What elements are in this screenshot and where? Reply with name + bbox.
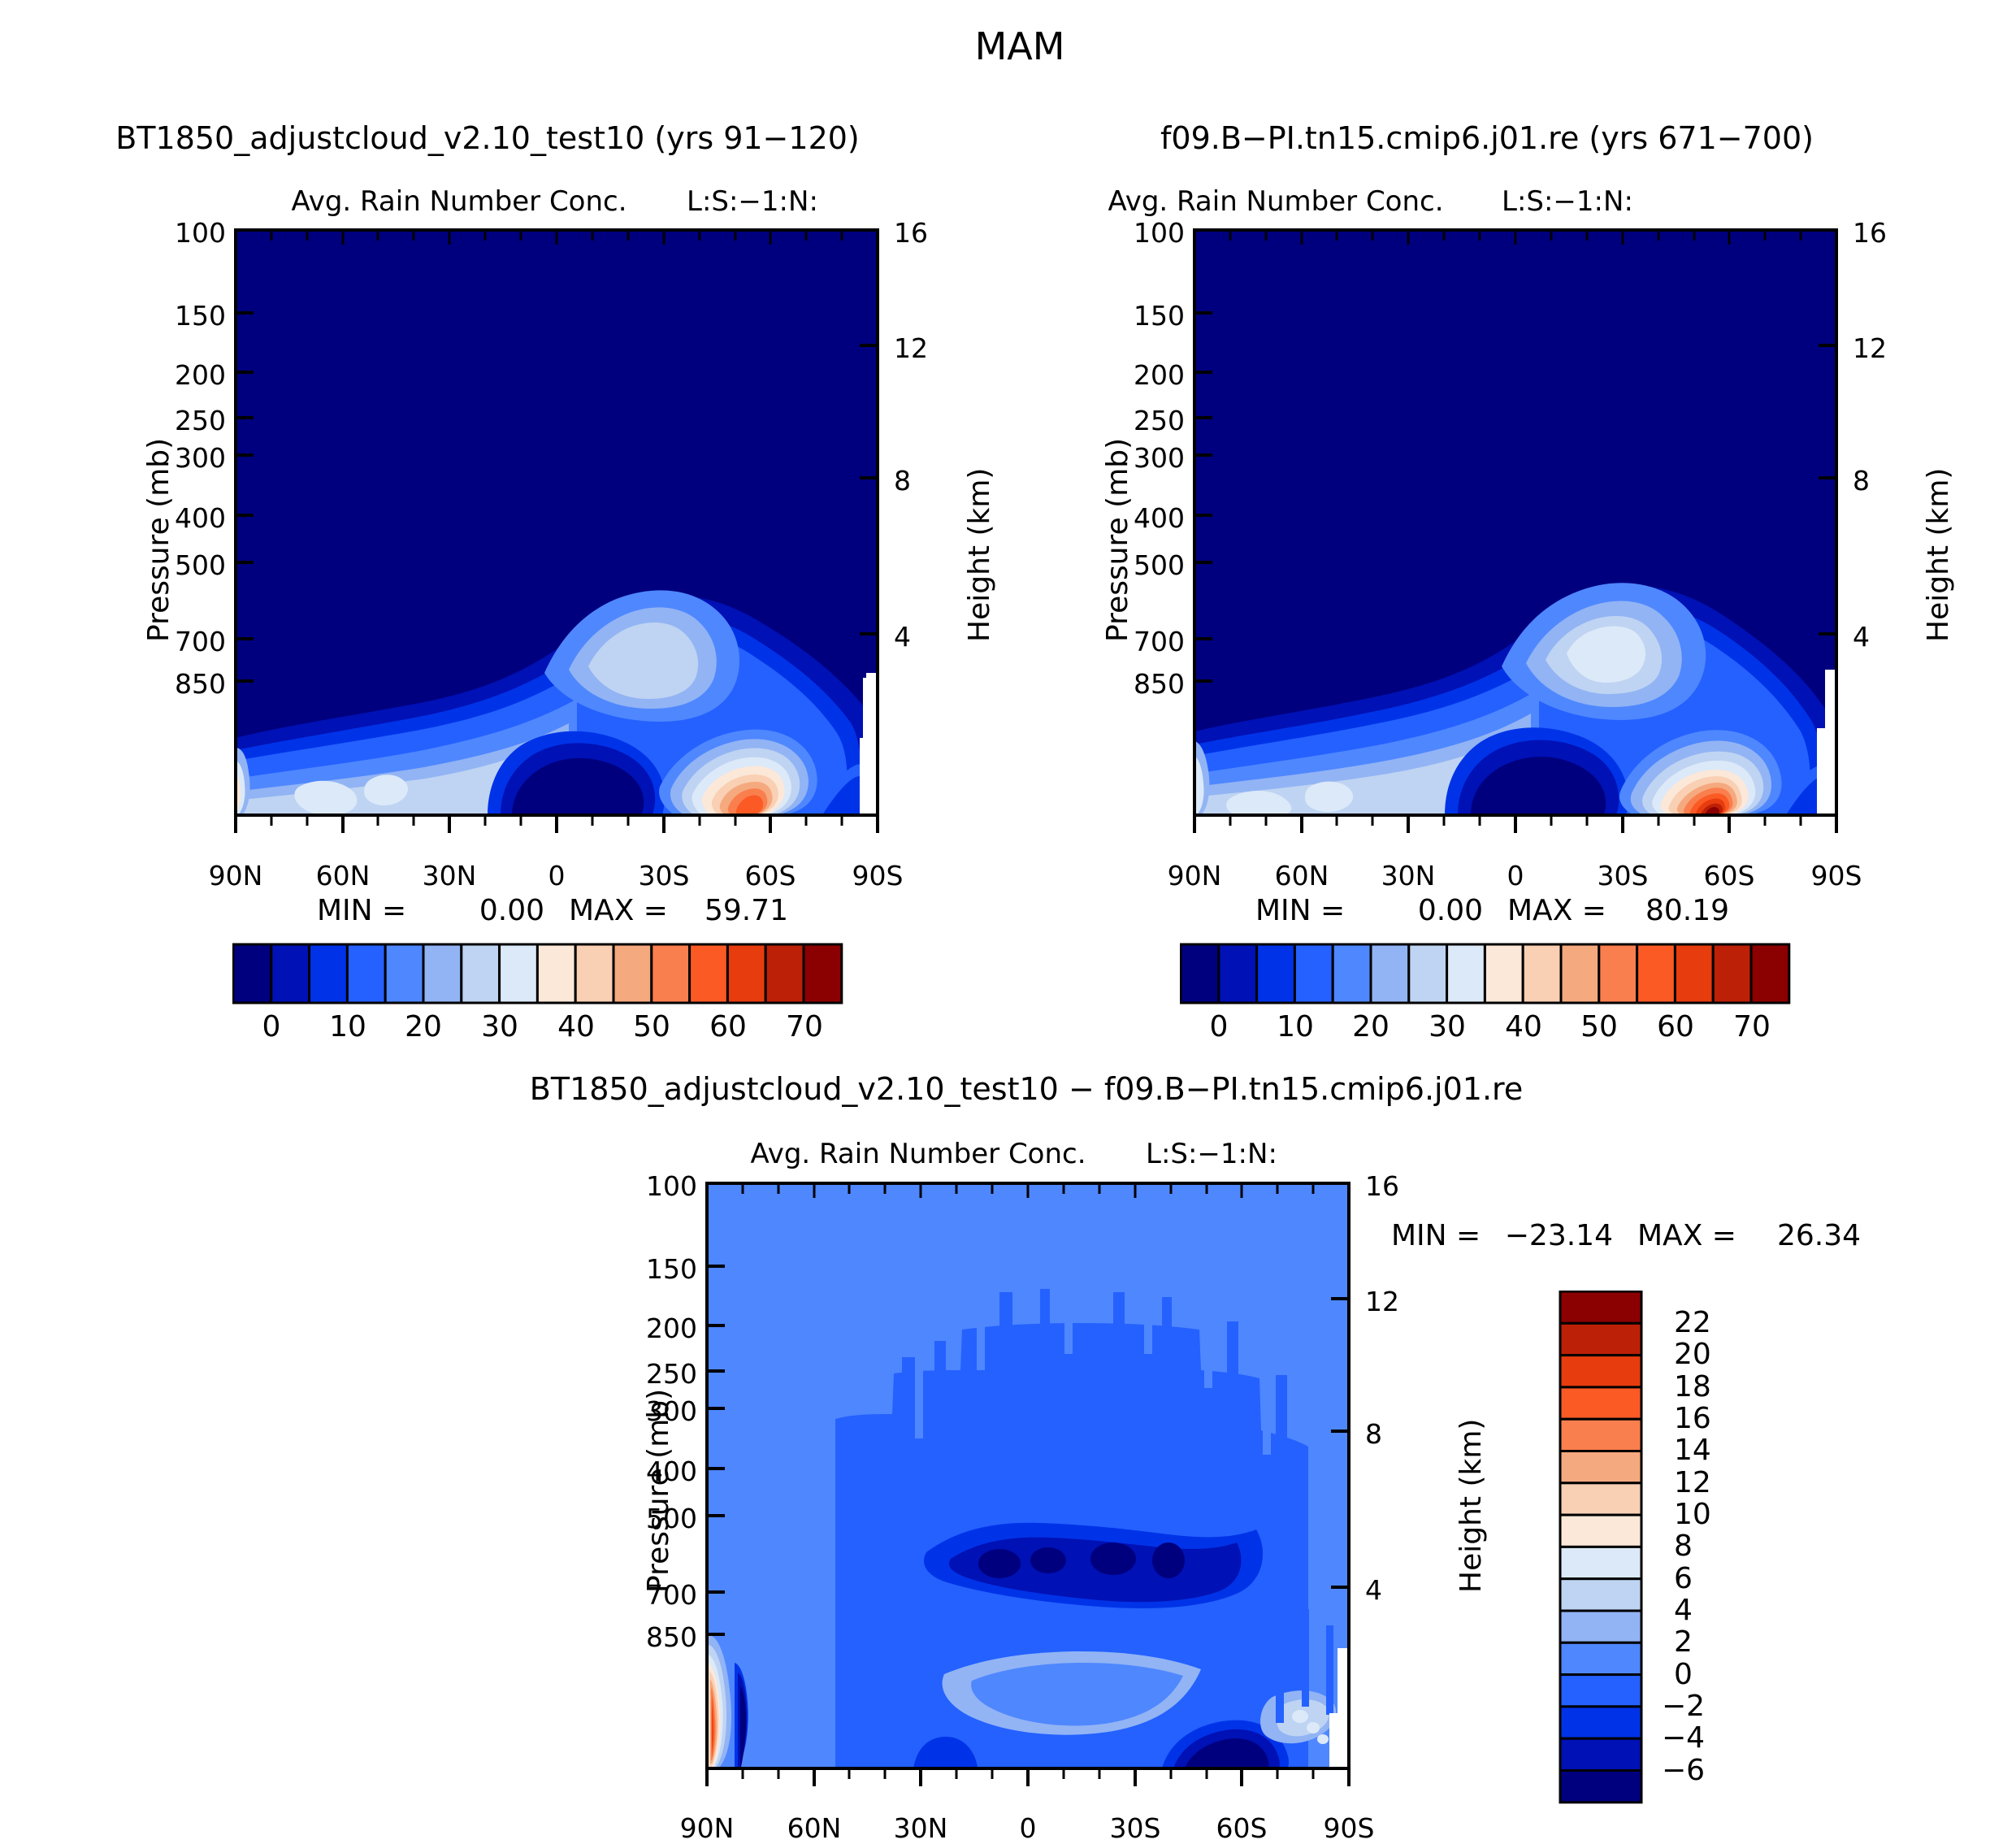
diff-panel-xtick-60N: 60N (787, 1812, 842, 1844)
right-colorbar-tick-30: 30 (1429, 1010, 1466, 1043)
right-panel-ytick-300: 300 (1134, 442, 1185, 474)
diff-panel-max-value: 26.34 (1777, 1219, 1861, 1252)
right-panel-xtick-0: 0 (1507, 860, 1524, 892)
left-panel-title: BT1850_adjustcloud_v2.10_test10 (yrs 91−… (115, 120, 860, 156)
right-panel-xtick-30N: 30N (1381, 860, 1436, 892)
left-panel-ytick-400: 400 (175, 502, 226, 534)
right-panel-min-label: MIN = (1255, 894, 1345, 927)
colorbar-cells (1181, 944, 1789, 1003)
right-panel-y2tick-12: 12 (1853, 332, 1887, 364)
right-colorbar-tick-20: 20 (1352, 1010, 1390, 1043)
left-panel-xtick-30N: 30N (423, 860, 477, 892)
right-colorbar-tick-10: 10 (1277, 1010, 1314, 1043)
left-colorbar-tick-10: 10 (329, 1010, 366, 1043)
right-panel-ytick-200: 200 (1134, 359, 1185, 391)
left-panel-xtick-90S: 90S (852, 860, 904, 892)
right-panel-max-value: 80.19 (1645, 894, 1729, 927)
left-colorbar-tick-0: 0 (262, 1010, 281, 1043)
diff-panel-min-value: −23.14 (1505, 1219, 1613, 1252)
left-panel-xtick-60S: 60S (745, 860, 796, 892)
right-colorbar-tick-40: 40 (1505, 1010, 1542, 1043)
diff-panel-xtick-30N: 30N (894, 1812, 948, 1844)
diff-colorbar-tick-22: 22 (1674, 1306, 1711, 1339)
left-panel-min-value: 0.00 (479, 894, 544, 927)
left-panel-y2tick-12: 12 (894, 332, 928, 364)
main-title: MAM (975, 24, 1065, 68)
right-panel-ytick-500: 500 (1134, 549, 1185, 581)
diff-panel-min-label: MIN = (1391, 1219, 1481, 1252)
left-panel-max-value: 59.71 (705, 894, 788, 927)
diff-panel-y2tick-12: 12 (1365, 1286, 1399, 1317)
left-panel-xtick-30S: 30S (639, 860, 690, 892)
diff-panel-ytick-100: 100 (646, 1170, 697, 1202)
left-panel-ytick-850: 850 (175, 668, 226, 700)
right-panel-ytick-400: 400 (1134, 502, 1185, 534)
right-panel-xtick-30S: 30S (1598, 860, 1649, 892)
right-panel-ytick-100: 100 (1134, 217, 1185, 249)
left-panel-y2tick-16: 16 (894, 217, 928, 249)
diff-panel-plot (658, 1170, 1479, 1820)
right-panel-ytick-250: 250 (1134, 405, 1185, 436)
right-panel-y2tick-16: 16 (1853, 217, 1887, 249)
diff-colorbar-tick-16: 16 (1674, 1402, 1711, 1435)
diff-panel-ytick-500: 500 (646, 1503, 697, 1534)
diff-colorbar-tick-m4: −4 (1662, 1721, 1705, 1755)
left-panel-ytick-700: 700 (175, 626, 226, 657)
right-panel-xtick-60N: 60N (1275, 860, 1329, 892)
diff-colorbar-tick-12: 12 (1674, 1466, 1711, 1499)
left-panel-xtick-90N: 90N (209, 860, 263, 892)
right-colorbar-tick-70: 70 (1733, 1010, 1771, 1043)
diff-panel-ytick-400: 400 (646, 1456, 697, 1487)
diff-panel-colorbar[interactable] (1559, 1291, 1664, 1811)
left-panel-min-label: MIN = (317, 894, 406, 927)
right-panel-xtick-60S: 60S (1704, 860, 1755, 892)
diff-panel-ytick-250: 250 (646, 1358, 697, 1390)
left-colorbar-tick-40: 40 (557, 1010, 595, 1043)
diff-panel-ytick-700: 700 (646, 1579, 697, 1611)
right-panel-title: f09.B−PI.tn15.cmip6.j01.re (yrs 671−700) (1160, 120, 1814, 156)
right-colorbar-tick-60: 60 (1657, 1010, 1694, 1043)
left-panel-subtitle: Avg. Rain Number Conc. (291, 185, 626, 218)
right-panel-plot (1121, 218, 1942, 876)
diff-colorbar-tick-14: 14 (1674, 1434, 1711, 1467)
diff-colorbar-tick-10: 10 (1674, 1498, 1711, 1531)
diff-panel-ytick-200: 200 (646, 1312, 697, 1344)
right-panel-min-value: 0.00 (1418, 894, 1483, 927)
left-colorbar-tick-70: 70 (786, 1010, 823, 1043)
right-panel-ytick-150: 150 (1134, 300, 1185, 332)
left-panel-xtick-60N: 60N (316, 860, 371, 892)
diff-panel-y2tick-4: 4 (1365, 1574, 1382, 1606)
left-panel-ytick-300: 300 (175, 442, 226, 474)
left-panel-y2tick-4: 4 (894, 621, 911, 653)
right-panel-xtick-90N: 90N (1168, 860, 1222, 892)
diff-colorbar-tick-2: 2 (1674, 1625, 1693, 1659)
left-panel-ytick-150: 150 (175, 300, 226, 332)
left-panel-y2tick-8: 8 (894, 465, 911, 497)
right-colorbar-tick-0: 0 (1210, 1010, 1229, 1043)
diff-panel-ytick-150: 150 (646, 1253, 697, 1285)
diff-panel-y2tick-16: 16 (1365, 1170, 1399, 1202)
right-panel-y2tick-4: 4 (1853, 621, 1870, 653)
diff-panel-xtick-0: 0 (1020, 1812, 1037, 1844)
colorbar-cells (233, 944, 842, 1003)
diff-colorbar-tick-20: 20 (1674, 1338, 1711, 1371)
colorbar-cells (1560, 1291, 1641, 1803)
diff-panel-subtitle: Avg. Rain Number Conc. (750, 1138, 1086, 1170)
figure-canvas: MAM BT1850_adjustcloud_v2.10_test10 (yrs… (0, 0, 2016, 1826)
right-panel-colorbar[interactable] (1180, 943, 1806, 1040)
left-panel-ytick-200: 200 (175, 359, 226, 391)
diff-colorbar-tick-m2: −2 (1662, 1690, 1705, 1723)
right-panel-max-label: MAX = (1507, 894, 1606, 927)
right-colorbar-tick-50: 50 (1580, 1010, 1618, 1043)
diff-colorbar-tick-4: 4 (1674, 1594, 1693, 1627)
right-panel-ytick-700: 700 (1134, 626, 1185, 657)
left-panel-ytick-250: 250 (175, 405, 226, 436)
left-panel-ytick-100: 100 (175, 217, 226, 249)
diff-panel-y2tick-8: 8 (1365, 1418, 1382, 1450)
right-panel-y2tick-8: 8 (1853, 465, 1870, 497)
right-panel-xtick-90S: 90S (1811, 860, 1862, 892)
left-colorbar-tick-20: 20 (405, 1010, 442, 1043)
left-panel-subtitle-code: L:S:−1:N: (687, 185, 818, 218)
left-panel-xtick-0: 0 (548, 860, 566, 892)
left-colorbar-tick-60: 60 (709, 1010, 747, 1043)
left-colorbar-tick-50: 50 (633, 1010, 670, 1043)
diff-colorbar-tick-18: 18 (1674, 1370, 1711, 1404)
right-panel-subtitle-code: L:S:−1:N: (1502, 185, 1633, 218)
diff-panel-xtick-90S: 90S (1324, 1812, 1375, 1844)
diff-panel-xtick-60S: 60S (1216, 1812, 1268, 1844)
diff-panel-title: BT1850_adjustcloud_v2.10_test10 − f09.B−… (530, 1071, 1523, 1107)
left-panel-max-label: MAX = (569, 894, 668, 927)
diff-panel-max-label: MAX = (1637, 1219, 1736, 1252)
left-panel-plot (163, 218, 983, 876)
diff-panel-ytick-300: 300 (646, 1395, 697, 1427)
diff-colorbar-tick-0: 0 (1674, 1658, 1693, 1691)
diff-panel-ytick-850: 850 (646, 1621, 697, 1653)
diff-colorbar-tick-m6: −6 (1662, 1754, 1705, 1787)
right-panel-ytick-850: 850 (1134, 668, 1185, 700)
diff-panel-xtick-90N: 90N (680, 1812, 735, 1844)
right-panel-subtitle: Avg. Rain Number Conc. (1108, 185, 1443, 218)
left-panel-colorbar[interactable] (232, 943, 858, 1040)
diff-colorbar-tick-8: 8 (1674, 1529, 1693, 1563)
diff-panel-subtitle-code: L:S:−1:N: (1146, 1138, 1277, 1170)
diff-panel-xtick-30S: 30S (1110, 1812, 1161, 1844)
left-colorbar-tick-30: 30 (481, 1010, 518, 1043)
left-panel-ytick-500: 500 (175, 549, 226, 581)
diff-colorbar-tick-6: 6 (1674, 1562, 1693, 1595)
